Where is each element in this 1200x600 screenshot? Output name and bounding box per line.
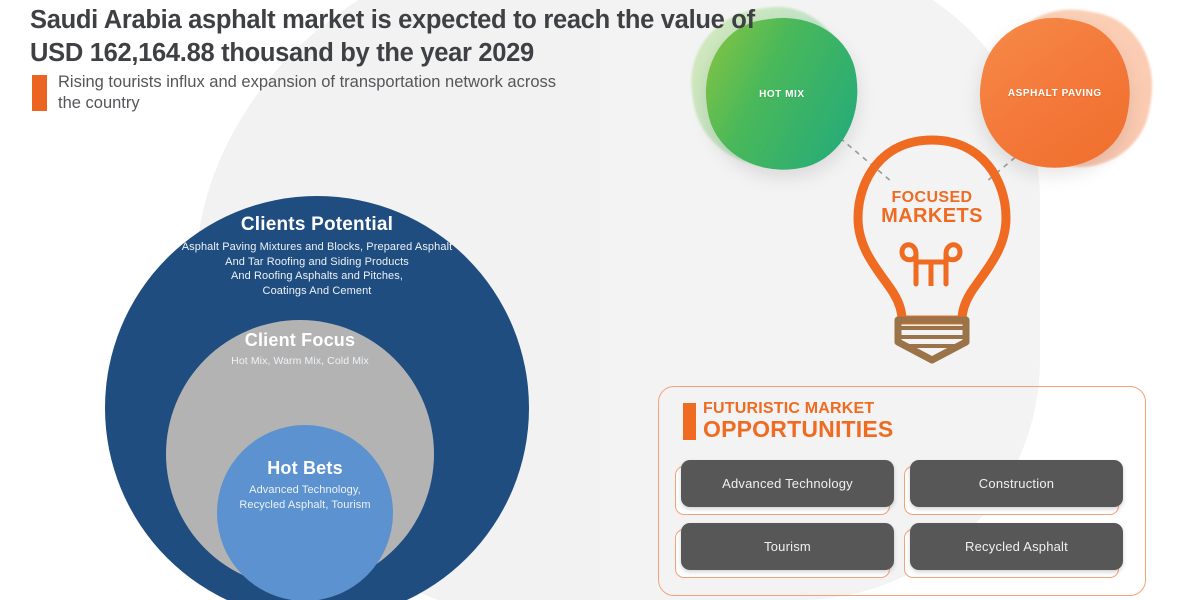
- client-focus-label: Client Focus Hot Mix, Warm Mix, Cold Mix: [166, 330, 434, 369]
- futuristic-marker-icon: [683, 403, 696, 440]
- client-focus-body: Hot Mix, Warm Mix, Cold Mix: [166, 355, 434, 369]
- page-title: Saudi Arabia asphalt market is expected …: [30, 4, 760, 70]
- hot-bets-label: Hot Bets Advanced Technology,Recycled As…: [212, 458, 398, 512]
- hot-bets-title: Hot Bets: [212, 458, 398, 479]
- opportunity-button-advanced-technology[interactable]: Advanced Technology: [681, 460, 894, 507]
- futuristic-title-line1: FUTURISTIC MARKET: [703, 401, 893, 417]
- focused-markets-bulb: FOCUSED MARKETS: [846, 134, 1018, 364]
- asphalt-paving-blob-label: ASPHALT PAVING: [1008, 87, 1102, 98]
- bulb-filament-left-icon: [902, 245, 916, 284]
- futuristic-opportunities-header: FUTURISTIC MARKET OPPORTUNITIES: [683, 401, 893, 441]
- hot-mix-blob-label: HOT MIX: [759, 89, 805, 100]
- bulb-filament-right-icon: [946, 245, 960, 284]
- hot-bets-body: Advanced Technology,Recycled Asphalt, To…: [212, 483, 398, 512]
- focused-markets-line2: MARKETS: [846, 206, 1018, 226]
- futuristic-title-line2: OPPORTUNITIES: [703, 418, 893, 441]
- opportunities-grid: Advanced Technology Construction Tourism…: [681, 460, 1123, 570]
- opportunity-button-construction[interactable]: Construction: [910, 460, 1123, 507]
- bulb-glass-icon: [858, 140, 1006, 320]
- clients-potential-label: Clients Potential Asphalt Paving Mixture…: [112, 214, 522, 299]
- clients-potential-body: Asphalt Paving Mixtures and Blocks, Prep…: [112, 240, 522, 299]
- subtitle-text: Rising tourists influx and expansion of …: [58, 72, 572, 115]
- futuristic-opportunities-panel: FUTURISTIC MARKET OPPORTUNITIES Advanced…: [658, 386, 1146, 596]
- subtitle-block: Rising tourists influx and expansion of …: [32, 72, 572, 115]
- opportunity-cell: Construction: [910, 460, 1123, 507]
- clients-potential-title: Clients Potential: [112, 214, 522, 236]
- opportunity-cell: Tourism: [681, 523, 894, 570]
- subtitle-marker-icon: [32, 75, 47, 111]
- client-focus-title: Client Focus: [166, 330, 434, 351]
- opportunity-cell: Recycled Asphalt: [910, 523, 1123, 570]
- opportunity-button-tourism[interactable]: Tourism: [681, 523, 894, 570]
- infographic-canvas: Saudi Arabia asphalt market is expected …: [0, 0, 1200, 600]
- futuristic-title-group: FUTURISTIC MARKET OPPORTUNITIES: [703, 401, 893, 441]
- focused-markets-label: FOCUSED MARKETS: [846, 190, 1018, 227]
- focused-markets-line1: FOCUSED: [846, 190, 1018, 206]
- hot-bets-circle: [217, 425, 393, 600]
- opportunity-button-recycled-asphalt[interactable]: Recycled Asphalt: [910, 523, 1123, 570]
- opportunity-cell: Advanced Technology: [681, 460, 894, 507]
- lightbulb-icon: [846, 134, 1018, 364]
